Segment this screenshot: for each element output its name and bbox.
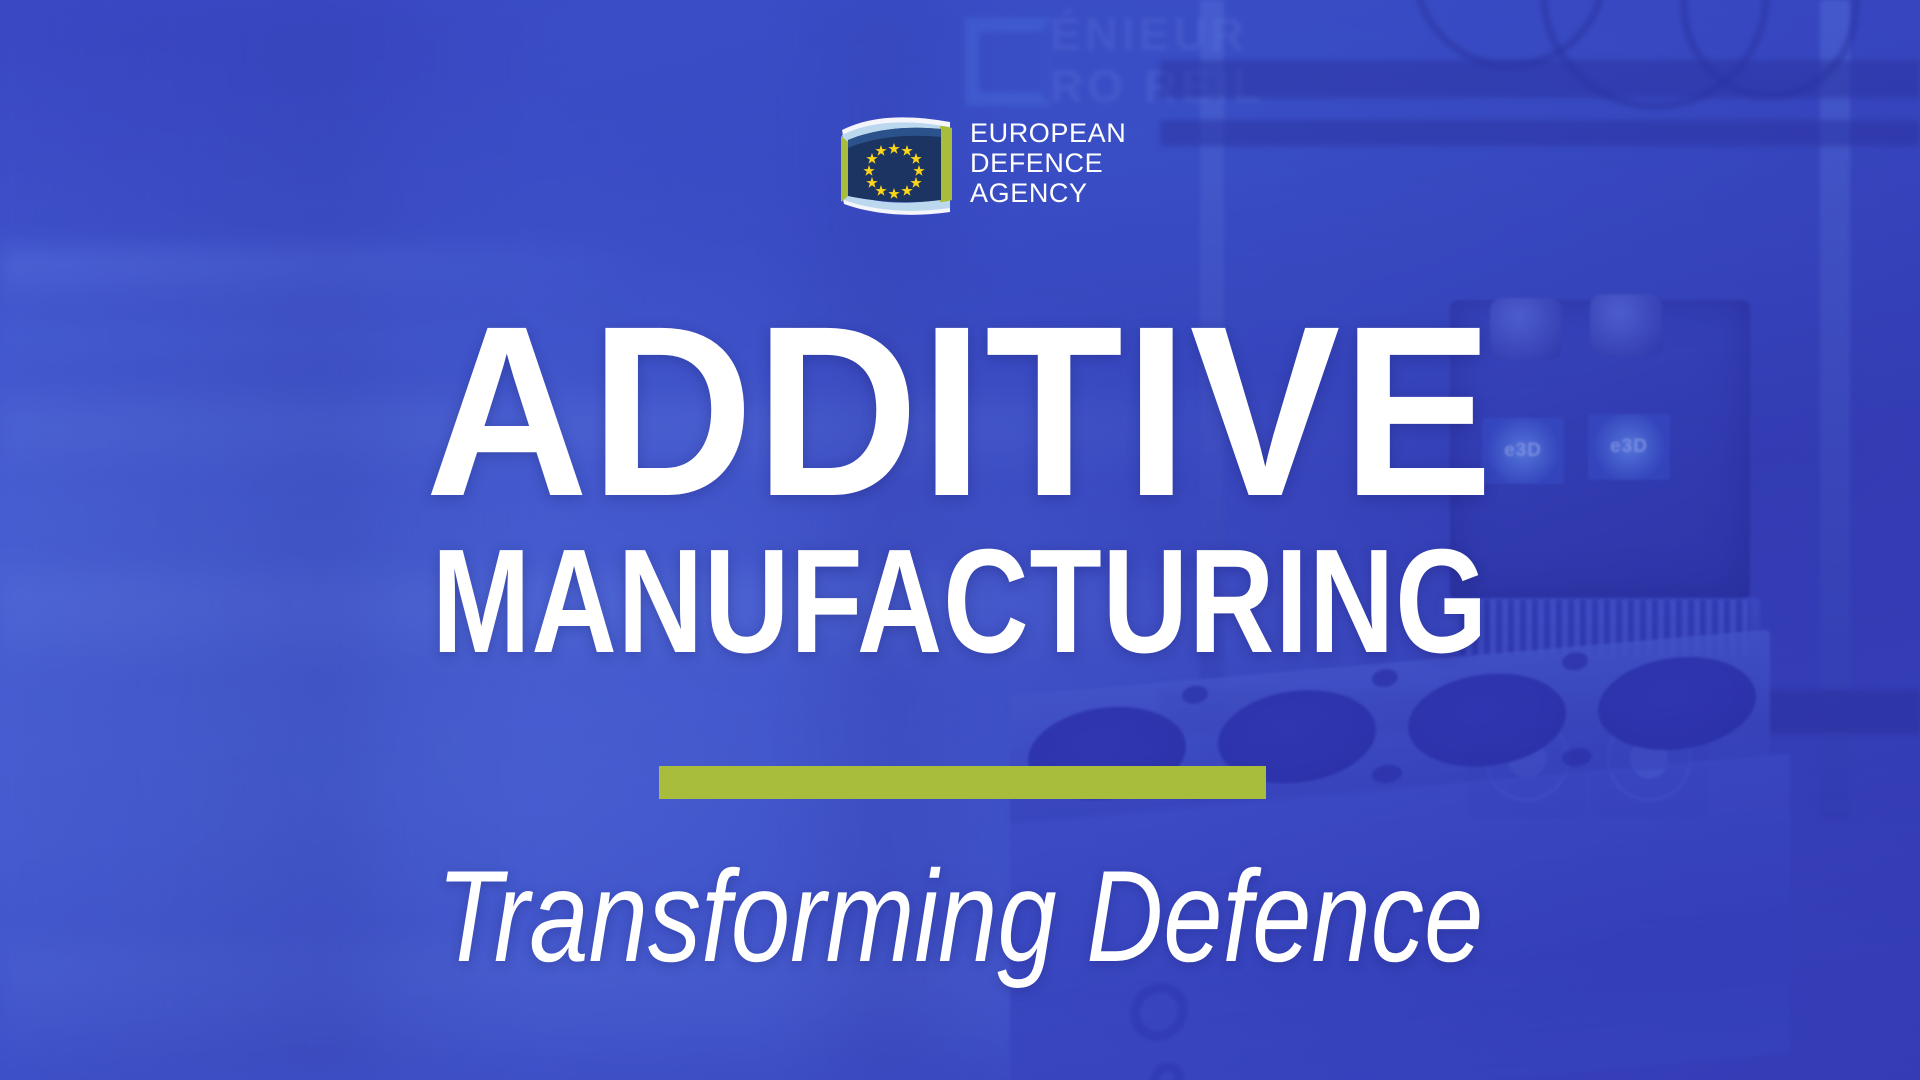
headline-line-manufacturing: MANUFACTURING (192, 528, 1728, 676)
accent-bar-divider (659, 766, 1266, 799)
eda-logo-text: EUROPEAN DEFENCE AGENCY (970, 118, 1126, 208)
headline-line-additive: ADDITIVE (67, 300, 1853, 524)
eda-logo: EUROPEAN DEFENCE AGENCY (836, 108, 1126, 218)
poster-canvas: ÉNIEUR RO REIL e3D e3D (0, 0, 1920, 1080)
eda-logo-line-1: EUROPEAN (970, 118, 1126, 148)
eda-logo-line-3: AGENCY (970, 178, 1088, 208)
headline: ADDITIVE MANUFACTURING (0, 300, 1920, 676)
eu-waving-flag-icon (836, 108, 956, 218)
poster-content: EUROPEAN DEFENCE AGENCY ADDITIVE MANUFAC… (0, 0, 1920, 1080)
subtitle: Transforming Defence (173, 845, 1747, 988)
eda-logo-line-2: DEFENCE (970, 148, 1103, 178)
